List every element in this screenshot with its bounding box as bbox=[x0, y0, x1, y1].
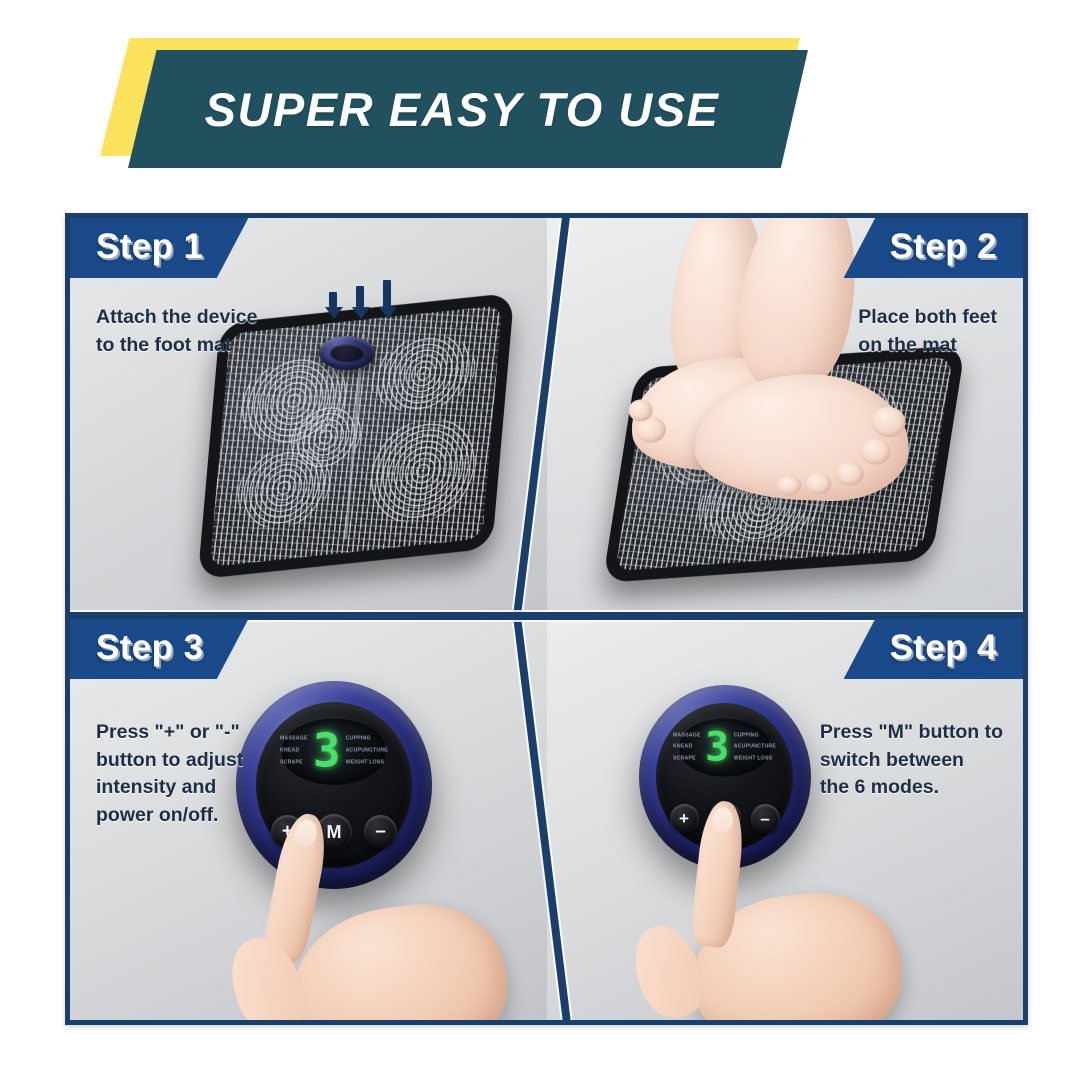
intensity-value: 3 bbox=[313, 733, 341, 771]
banner-title: SUPER EASY TO USE bbox=[205, 82, 720, 137]
step-panel-3: MASSAGE KNEAD SCRAPE 3 CUPPING ACUPUNCTU… bbox=[70, 619, 547, 1020]
step-panel-2: Step 2 Place both feet on the mat bbox=[547, 218, 1024, 619]
step-1-photo bbox=[70, 218, 547, 619]
step-4-caption: Press "M" button to switch between the 6… bbox=[820, 719, 1003, 802]
step-2-caption: Place both feet on the mat bbox=[858, 304, 997, 359]
header-banner: SUPER EASY TO USE bbox=[0, 0, 1080, 200]
mode-label: CUPPING bbox=[346, 737, 388, 742]
display-labels-left: MASSAGE KNEAD SCRAPE bbox=[673, 726, 701, 768]
hand-pressing-plus bbox=[230, 815, 530, 1020]
mode-label: CUPPING bbox=[734, 734, 776, 739]
step-4-photo: MASSAGE KNEAD SCRAPE 3 CUPPING ACUPUNCTU… bbox=[547, 619, 1024, 1020]
controller-display: MASSAGE KNEAD SCRAPE 3 CUPPING ACUPUNCTU… bbox=[679, 718, 770, 777]
banner-teal-shape: SUPER EASY TO USE bbox=[128, 50, 808, 168]
mode-label: KNEAD bbox=[280, 749, 308, 754]
step-3-tab-label: Step 3 bbox=[96, 628, 203, 668]
mode-label: WEIGHT LOSS bbox=[346, 761, 388, 766]
mode-label: KNEAD bbox=[673, 745, 701, 750]
mode-label: ACUPUNCTURE bbox=[346, 749, 388, 754]
mode-label: ACUPUNCTURE bbox=[734, 745, 776, 750]
mode-label: SCRAPE bbox=[673, 756, 701, 761]
steps-grid: Step 1 Attach the device to the foot mat bbox=[65, 213, 1028, 1025]
mat-controller-disc bbox=[319, 336, 375, 370]
controller-display: MASSAGE KNEAD SCRAPE 3 CUPPING ACUPUNCTU… bbox=[282, 718, 385, 785]
intensity-value: 3 bbox=[705, 731, 729, 764]
step-4-tab-label: Step 4 bbox=[890, 628, 997, 668]
mode-label: MASSAGE bbox=[280, 737, 308, 742]
display-labels-right: CUPPING ACUPUNCTURE WEIGHT LOSS bbox=[734, 726, 776, 768]
mode-label: SCRAPE bbox=[280, 761, 308, 766]
step-panel-1: Step 1 Attach the device to the foot mat bbox=[70, 218, 547, 619]
hand-pressing-mode bbox=[635, 801, 935, 1020]
step-2-tab: Step 2 bbox=[844, 218, 1023, 278]
down-arrow-icon bbox=[325, 292, 340, 319]
down-arrow-icon bbox=[379, 280, 394, 319]
mode-label: WEIGHT LOSS bbox=[734, 756, 776, 761]
step-2-photo bbox=[547, 218, 1024, 619]
step-1-caption: Attach the device to the foot mat bbox=[96, 304, 257, 359]
step-panel-4: MASSAGE KNEAD SCRAPE 3 CUPPING ACUPUNCTU… bbox=[547, 619, 1024, 1020]
step-3-caption: Press "+" or "-" button to adjust intens… bbox=[96, 719, 243, 830]
down-arrows-group bbox=[325, 280, 394, 319]
mode-label: MASSAGE bbox=[673, 734, 701, 739]
display-labels-left: MASSAGE KNEAD SCRAPE bbox=[280, 728, 308, 776]
down-arrow-icon bbox=[352, 286, 367, 319]
step-1-tab-label: Step 1 bbox=[96, 227, 203, 267]
step-2-tab-label: Step 2 bbox=[890, 227, 997, 267]
step-4-tab: Step 4 bbox=[844, 619, 1023, 679]
display-labels-right: CUPPING ACUPUNCTURE WEIGHT LOSS bbox=[346, 728, 388, 776]
